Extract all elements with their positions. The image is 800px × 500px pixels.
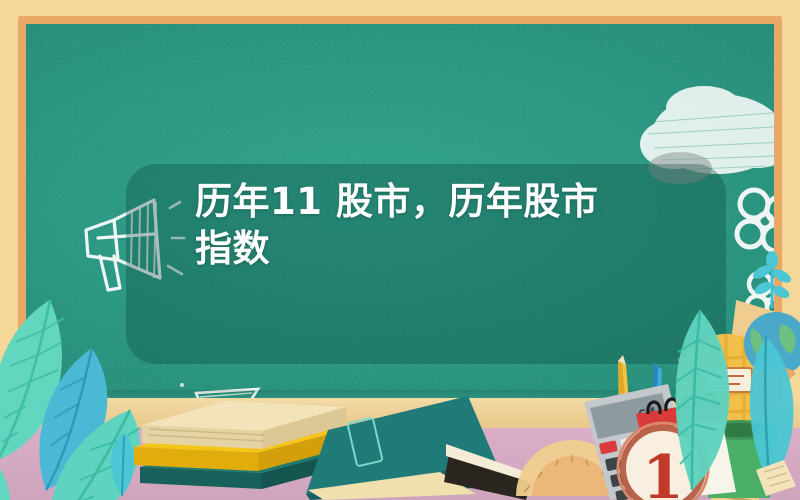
loose-papers <box>752 452 800 500</box>
title-line-1: 历年11 股市，历年股市 <box>195 180 598 223</box>
title-line-2: 指数 <box>195 227 270 270</box>
page-title: 历年11 股市，历年股市 指数 <box>195 178 645 272</box>
banner-image: 历年11 股市，历年股市 指数 <box>0 0 800 500</box>
leaf-sprig-top-right <box>750 250 796 310</box>
